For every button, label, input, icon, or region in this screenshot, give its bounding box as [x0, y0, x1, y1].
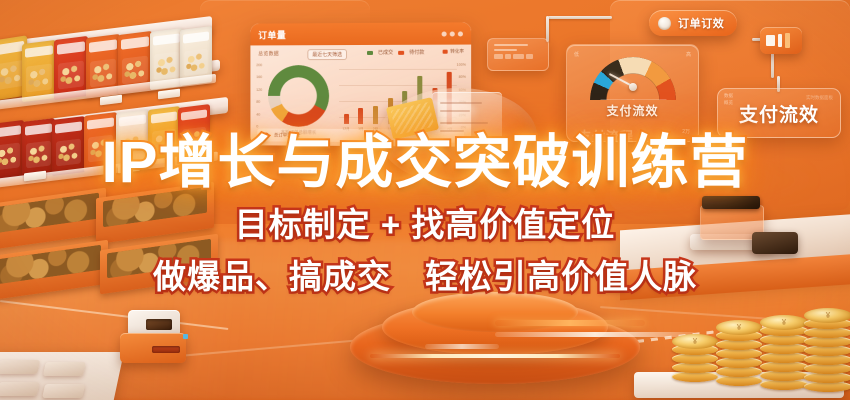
- coin-stack: [804, 284, 850, 392]
- y-axis-left: 20016012080400: [256, 63, 262, 128]
- pos-terminal: [120, 310, 186, 366]
- connector-wire-horizontal: [548, 16, 612, 19]
- podium-ring-inner: [412, 292, 578, 332]
- donut-value-label: 总转化率: [291, 97, 307, 103]
- tag-card-blocks: [494, 54, 542, 59]
- gauge-corner-value: 2万: [682, 128, 690, 135]
- donut-value: 2.35%: [289, 89, 309, 96]
- date-filter-chip[interactable]: 最近七天筛选: [307, 49, 347, 60]
- gauge-ghost-label: 支付流程: [578, 126, 634, 145]
- donut-chart: 2.35% 总转化率: [268, 65, 329, 127]
- axis-tick: 120: [256, 88, 262, 92]
- donut-center: 2.35% 总转化率: [280, 77, 317, 114]
- pos-terminal-screen: [146, 319, 172, 330]
- status-dot-icon: [658, 17, 671, 30]
- podium-highlight-band: [495, 332, 695, 337]
- gauge-label: 支付流效: [567, 102, 698, 119]
- axis-tick: 80%: [459, 75, 466, 79]
- bar: [373, 106, 378, 125]
- legend-right-label: 转化率: [450, 49, 464, 55]
- axis-tick: 160: [256, 75, 262, 79]
- coin-stack: [716, 310, 762, 386]
- axis-tick: 40: [256, 112, 262, 116]
- dashboard-title: 订单量: [258, 28, 286, 41]
- bar-chart-item: 2月: [370, 106, 380, 132]
- tray-box: [0, 360, 40, 374]
- order-efficiency-badge[interactable]: 订单订效: [649, 10, 737, 36]
- connector-wire-mini-down: [771, 52, 774, 78]
- sphere-inner-panel: [432, 92, 502, 140]
- bar-indicator-widget[interactable]: [760, 27, 802, 54]
- kiosk-card-reader: [752, 232, 798, 254]
- kiosk-screen: [702, 196, 760, 209]
- axis-tick: 80: [256, 100, 262, 104]
- product-tray: [0, 352, 124, 400]
- podium-light-slot: [495, 320, 645, 326]
- gauge-tick: [600, 100, 633, 101]
- pos-receipt-slot: [152, 346, 180, 353]
- gauge-corner-low: 低: [574, 51, 579, 58]
- bar: [344, 114, 349, 124]
- coin-face: [716, 320, 762, 335]
- footer-note: 总订单量统计: [274, 132, 301, 138]
- legend-label-2: 待付款: [409, 49, 424, 56]
- right-card-corner-note: 实时数据面板: [806, 95, 833, 101]
- podium-glow-arc: [370, 354, 620, 358]
- product-package: [84, 112, 117, 172]
- window-controls[interactable]: [442, 31, 463, 36]
- product-package: [22, 40, 56, 102]
- legend-label-1: 已成交: [378, 49, 393, 56]
- bar: [358, 108, 363, 124]
- chart-legend: 已成交 待付款: [367, 49, 424, 56]
- data-tag-card[interactable]: [487, 38, 549, 71]
- coin-face: [672, 334, 718, 349]
- gauge-hub: [629, 83, 637, 91]
- payment-efficiency-card[interactable]: 数据概览 实时数据面板 支付流效: [717, 88, 841, 138]
- payment-efficiency-label: 支付流效: [739, 100, 819, 127]
- pos-indicator-light: [183, 334, 188, 339]
- glowing-stage-podium: [350, 292, 640, 388]
- product-package: [0, 120, 24, 180]
- dashboard-header: 订单量: [250, 22, 471, 45]
- chart-legend-right: 转化率: [442, 49, 464, 55]
- promo-banner: 订单量 总览数据 最近七天筛选 已成交 待付款 转化率 2.35% 总转化率 本…: [0, 0, 850, 400]
- right-card-corner-label: 数据概览: [724, 93, 733, 107]
- footer-dot-icon: [263, 132, 269, 138]
- gauge-dial: [590, 57, 676, 100]
- order-efficiency-label: 订单订效: [678, 15, 724, 31]
- tray-box: [0, 382, 40, 396]
- axis-tick: 200: [256, 63, 262, 67]
- coin-face: [804, 308, 850, 323]
- coin-stack: [760, 298, 808, 390]
- product-package: [22, 118, 55, 178]
- product-package: [52, 116, 85, 176]
- tray-box: [43, 362, 86, 376]
- coin-face: [760, 315, 808, 330]
- product-package: [116, 109, 149, 168]
- gauge-corner-high: 高: [686, 51, 691, 58]
- axis-tick: 100%: [457, 63, 466, 67]
- dashboard-subtitle: 总览数据: [258, 50, 279, 57]
- bar-chart-item: 1月: [356, 108, 366, 131]
- tray-box: [42, 384, 85, 398]
- podium-highlight-left: [425, 344, 499, 349]
- coin-stack: [672, 326, 718, 382]
